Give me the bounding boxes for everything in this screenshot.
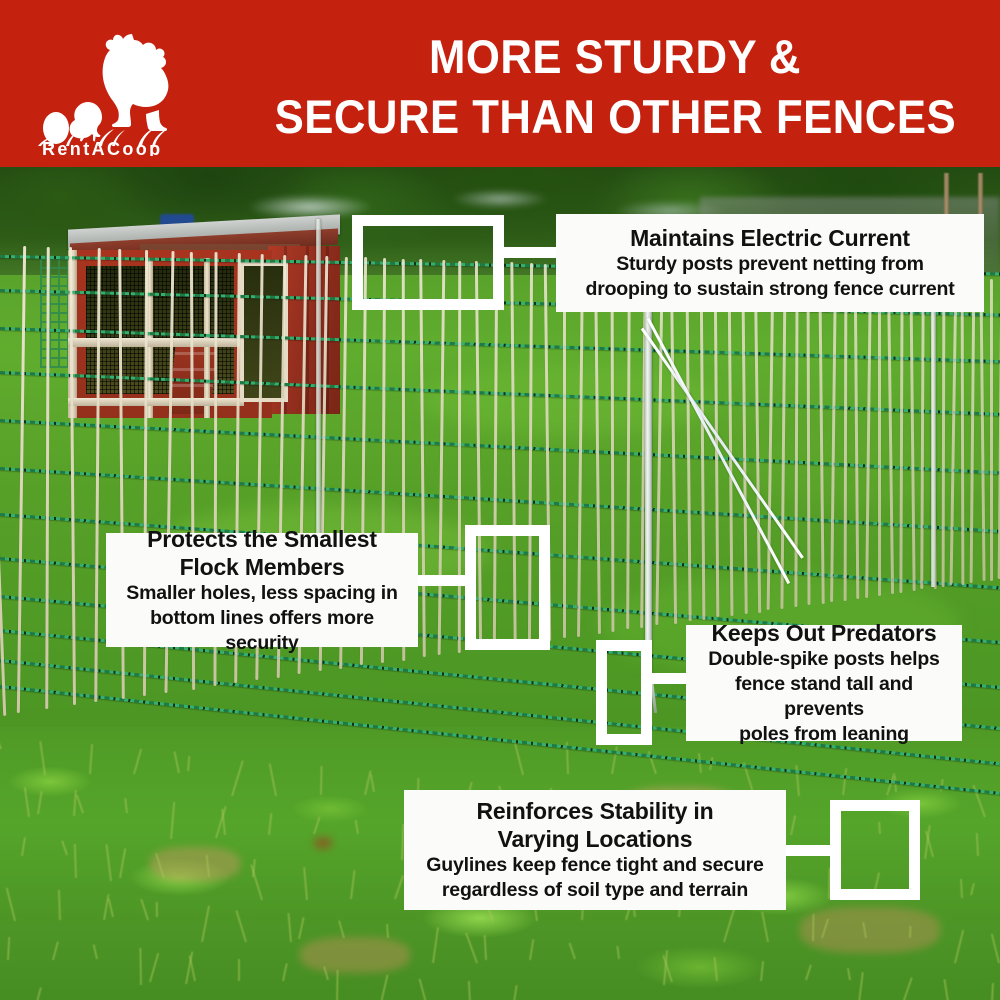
grass-blade bbox=[187, 756, 190, 771]
grass-blade bbox=[173, 751, 180, 773]
callout-body-line: Double-spike posts helps bbox=[708, 647, 939, 672]
grass-blade bbox=[287, 913, 292, 942]
grass-blade bbox=[37, 791, 43, 814]
callout-body-line: Sturdy posts prevent netting from bbox=[616, 252, 924, 277]
dry-leaf bbox=[314, 837, 332, 849]
grass-blade bbox=[133, 749, 142, 775]
grass-blade bbox=[313, 817, 320, 835]
grass-blade bbox=[761, 911, 769, 942]
grass-blade bbox=[976, 833, 979, 856]
hen-chick-egg-icon: RentACoop bbox=[36, 28, 206, 156]
grass-blade bbox=[140, 899, 149, 921]
grass-blade bbox=[465, 933, 478, 964]
grass-blade bbox=[7, 937, 10, 960]
connector-4 bbox=[778, 845, 838, 856]
callout-title: Maintains Electric Current bbox=[630, 224, 910, 252]
netting-vertical-strand bbox=[878, 275, 881, 596]
headline-line-2: SECURE THAN OTHER FENCES bbox=[274, 87, 955, 147]
grass-blade bbox=[61, 840, 68, 855]
highlight-rect-guyline-anchor bbox=[830, 800, 920, 900]
grass-blade bbox=[484, 935, 487, 960]
grass-blade bbox=[790, 815, 796, 835]
grass-blade bbox=[566, 742, 569, 774]
callout-body-line: fence stand tall and prevents bbox=[700, 672, 948, 722]
grass-blade bbox=[894, 776, 897, 792]
grass-blade bbox=[76, 795, 84, 814]
grass-blade bbox=[119, 848, 126, 878]
grass-blade bbox=[6, 888, 16, 921]
highlight-rect-post-spikes bbox=[596, 640, 652, 745]
grass-blade bbox=[39, 741, 46, 775]
grass-blade bbox=[52, 941, 59, 960]
grass-blade bbox=[902, 977, 913, 1000]
grass-blade bbox=[513, 740, 524, 775]
callout-body-line: regardless of soil type and terrain bbox=[442, 878, 748, 903]
grass-blade bbox=[282, 963, 288, 981]
coop-rail bbox=[68, 338, 244, 347]
grass-blade bbox=[940, 779, 944, 791]
grass-blade bbox=[954, 930, 964, 963]
coop-rail bbox=[68, 398, 244, 406]
grass-blade bbox=[350, 870, 356, 899]
grass-blade bbox=[74, 844, 77, 878]
grass-blade bbox=[842, 768, 847, 795]
grass-blade bbox=[58, 890, 61, 920]
grass-blade bbox=[235, 910, 247, 942]
grass-blade bbox=[124, 798, 128, 813]
grass-blade bbox=[149, 953, 159, 982]
callout-body-line: bottom lines offers more security bbox=[120, 606, 404, 656]
netting-vertical-strand bbox=[990, 279, 993, 581]
grass-blade bbox=[648, 751, 657, 774]
grass-blade bbox=[139, 948, 142, 985]
grass-blade bbox=[238, 959, 240, 981]
grass-blade bbox=[723, 908, 735, 942]
netting-vertical-strand bbox=[843, 274, 847, 601]
grass-blade bbox=[0, 737, 2, 749]
grass-blade bbox=[972, 785, 986, 818]
dry-grass-clump bbox=[800, 907, 940, 953]
grass-blade bbox=[943, 979, 949, 1000]
grass-blade bbox=[709, 757, 713, 770]
grass-blade bbox=[805, 964, 812, 980]
grass-blade bbox=[303, 867, 308, 900]
callout-title: Protects the Smallest bbox=[147, 525, 377, 553]
grass-blade bbox=[795, 765, 800, 796]
grass-blade bbox=[36, 987, 42, 1000]
grass-blade bbox=[108, 898, 114, 917]
grass-blade bbox=[858, 972, 864, 1000]
grass-blade bbox=[394, 875, 404, 899]
grass-blade bbox=[698, 753, 702, 773]
netting-vertical-strand bbox=[941, 277, 945, 587]
grass-blade bbox=[991, 983, 994, 1000]
grass-blade bbox=[513, 985, 518, 1000]
grass-blade bbox=[970, 883, 975, 895]
callout-body-line: Smaller holes, less spacing in bbox=[126, 581, 397, 606]
callout-title: Varying Locations bbox=[498, 825, 693, 853]
grass-blade bbox=[386, 924, 389, 938]
dry-grass-clump bbox=[300, 937, 410, 973]
netting-vertical-strand bbox=[563, 264, 566, 638]
grass-blade bbox=[298, 917, 305, 939]
highlight-rect-netting-top bbox=[352, 215, 504, 310]
grass-blade bbox=[569, 943, 576, 960]
grass-blade bbox=[89, 744, 93, 774]
headline-line-1: MORE STURDY & bbox=[429, 27, 801, 87]
grass-blade bbox=[529, 939, 534, 960]
grass-blade bbox=[991, 934, 1000, 964]
highlight-rect-small-holes bbox=[465, 525, 550, 650]
poster-root: Maintains Electric Current Sturdy posts … bbox=[0, 0, 1000, 1000]
grass-blade bbox=[170, 802, 175, 839]
grass-blade bbox=[268, 813, 272, 835]
grass-blade bbox=[105, 844, 111, 881]
grass-blade bbox=[960, 879, 963, 898]
callout-protects-smallest-flock-members[interactable]: Protects the Smallest Flock Members Smal… bbox=[106, 533, 418, 647]
header-banner: RentACoop MORE STURDY & SECURE THAN OTHE… bbox=[0, 0, 1000, 167]
grass-blade bbox=[370, 774, 375, 792]
grass-blade bbox=[156, 902, 158, 917]
rentacoop-logo[interactable]: RentACoop bbox=[36, 28, 206, 156]
grass-blade bbox=[21, 837, 26, 856]
grass-blade bbox=[269, 763, 277, 796]
grass-blade bbox=[760, 961, 764, 981]
callout-title: Keeps Out Predators bbox=[712, 619, 937, 647]
grass-blade bbox=[103, 894, 109, 920]
grass-blade bbox=[73, 790, 77, 816]
callout-keeps-out-predators[interactable]: Keeps Out Predators Double-spike posts h… bbox=[686, 625, 962, 741]
grass-blade bbox=[713, 957, 717, 981]
callout-body-line: drooping to sustain strong fence current bbox=[585, 277, 954, 302]
callout-title: Reinforces Stability in bbox=[477, 797, 714, 825]
grass-blade bbox=[611, 746, 618, 774]
grass-blade bbox=[93, 944, 98, 959]
grass-blade bbox=[355, 820, 359, 834]
callout-reinforces-stability[interactable]: Reinforces Stability in Varying Location… bbox=[404, 790, 786, 910]
fence-post bbox=[931, 287, 936, 587]
callout-body-line: poles from leaning bbox=[739, 722, 909, 747]
grass-blade bbox=[320, 766, 323, 795]
grass-blade bbox=[380, 975, 388, 1000]
grass-blade bbox=[847, 968, 851, 980]
grass-blade bbox=[231, 760, 244, 796]
grass-blade bbox=[336, 970, 339, 1000]
callout-title: Flock Members bbox=[180, 553, 345, 581]
callout-body-line: Guylines keep fence tight and secure bbox=[426, 853, 763, 878]
grass-blade bbox=[419, 979, 427, 1000]
svg-text:RentACoop: RentACoop bbox=[42, 139, 163, 156]
grass-blade bbox=[338, 920, 345, 938]
grass-blade bbox=[201, 905, 210, 942]
grass-blade bbox=[909, 926, 911, 938]
callout-maintains-electric-current[interactable]: Maintains Electric Current Sturdy posts … bbox=[556, 214, 984, 312]
headline: MORE STURDY & SECURE THAN OTHER FENCES bbox=[250, 27, 980, 147]
grass-blade bbox=[468, 981, 471, 1000]
grass-blade bbox=[616, 946, 620, 959]
grass-blade bbox=[432, 927, 439, 963]
grass-blade bbox=[24, 787, 30, 817]
